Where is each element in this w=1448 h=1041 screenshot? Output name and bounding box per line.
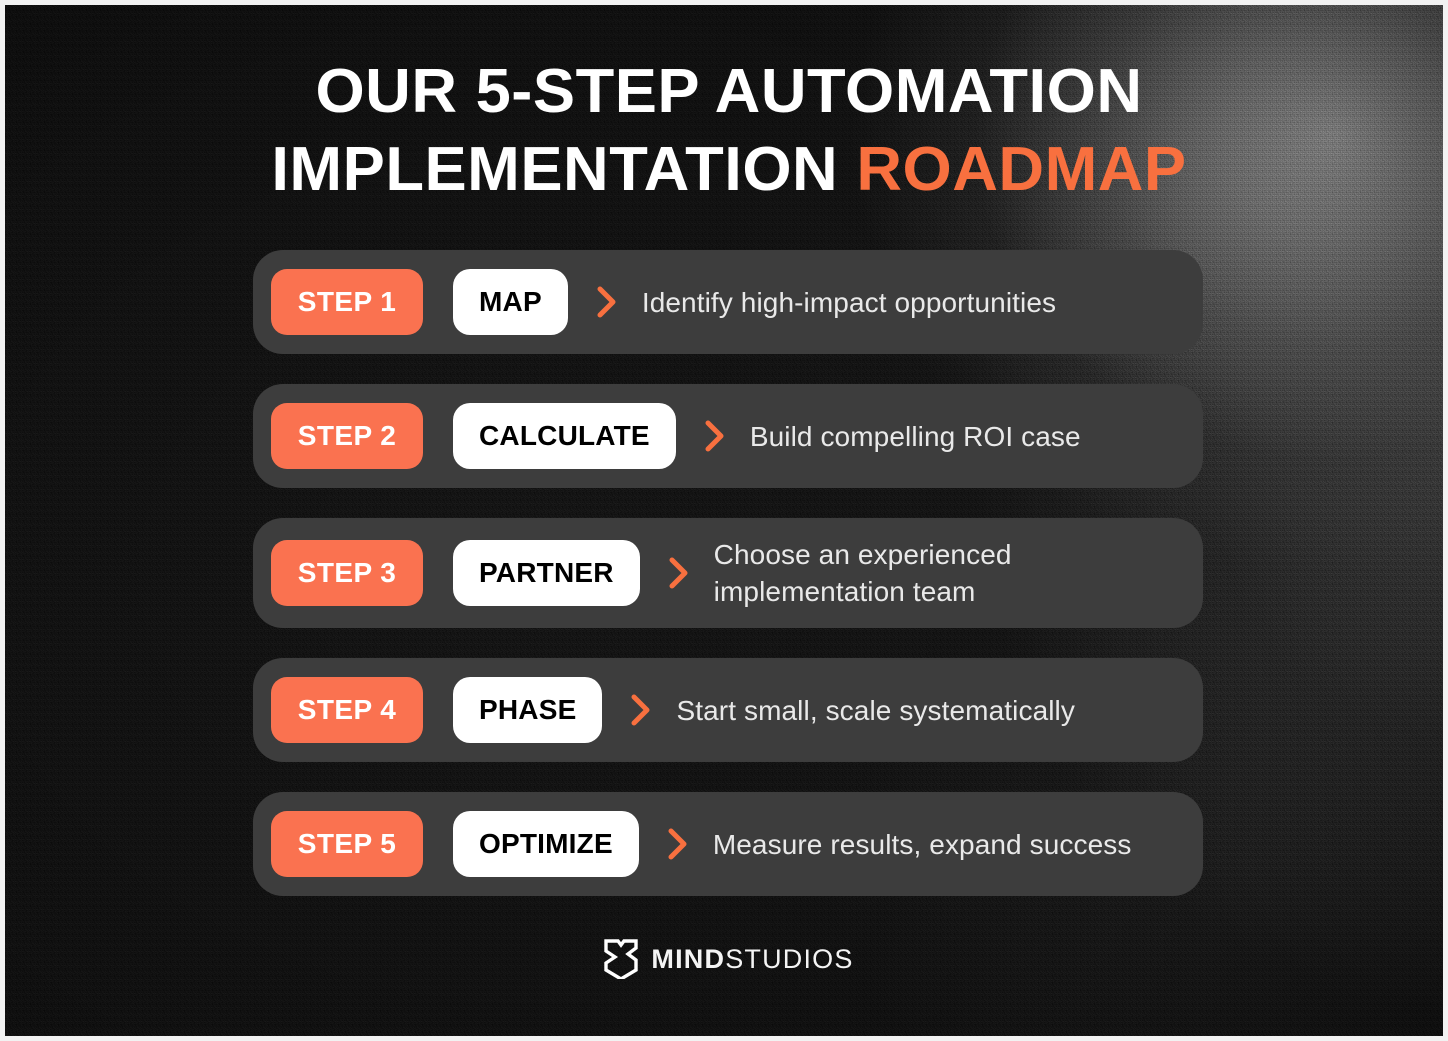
brand-wordmark: MINDSTUDIOS bbox=[651, 944, 853, 975]
step-keyword-pill: OPTIMIZE bbox=[453, 811, 639, 877]
title-line-1: OUR 5-STEP AUTOMATION bbox=[0, 53, 1448, 131]
chevron-right-icon bbox=[666, 556, 692, 590]
step-description: Start small, scale systematically bbox=[676, 692, 1075, 729]
brand-name-bold: MIND bbox=[651, 944, 725, 974]
chevron-right-icon bbox=[594, 285, 620, 319]
step-row[interactable]: STEP 3 PARTNER Choose an experienced imp… bbox=[253, 518, 1203, 628]
step-badge: STEP 5 bbox=[271, 811, 423, 877]
step-keyword-pill: PARTNER bbox=[453, 540, 640, 606]
step-description: Build compelling ROI case bbox=[750, 418, 1081, 455]
page-title: OUR 5-STEP AUTOMATION IMPLEMENTATION ROA… bbox=[5, 53, 1448, 209]
step-badge: STEP 2 bbox=[271, 403, 423, 469]
step-description: Identify high-impact opportunities bbox=[642, 284, 1056, 321]
step-keyword-pill: PHASE bbox=[453, 677, 602, 743]
mind-studios-shield-icon bbox=[604, 939, 638, 979]
step-keyword-pill: MAP bbox=[453, 269, 568, 335]
title-line-2-plain: IMPLEMENTATION bbox=[271, 135, 856, 204]
roadmap-infographic: OUR 5-STEP AUTOMATION IMPLEMENTATION ROA… bbox=[0, 0, 1448, 1041]
step-description: Measure results, expand success bbox=[713, 826, 1132, 863]
chevron-right-icon bbox=[665, 827, 691, 861]
title-accent-word: ROADMAP bbox=[856, 135, 1186, 204]
step-description: Choose an experienced implementation tea… bbox=[714, 536, 1044, 610]
step-badge: STEP 4 bbox=[271, 677, 423, 743]
step-row[interactable]: STEP 4 PHASE Start small, scale systemat… bbox=[253, 658, 1203, 762]
brand-name-light: STUDIOS bbox=[725, 944, 853, 974]
chevron-right-icon bbox=[702, 419, 728, 453]
step-row[interactable]: STEP 1 MAP Identify high-impact opportun… bbox=[253, 250, 1203, 354]
footer-brand: MINDSTUDIOS bbox=[5, 939, 1448, 979]
step-badge: STEP 3 bbox=[271, 540, 423, 606]
step-row[interactable]: STEP 2 CALCULATE Build compelling ROI ca… bbox=[253, 384, 1203, 488]
step-row[interactable]: STEP 5 OPTIMIZE Measure results, expand … bbox=[253, 792, 1203, 896]
steps-list: STEP 1 MAP Identify high-impact opportun… bbox=[253, 250, 1203, 926]
step-badge: STEP 1 bbox=[271, 269, 423, 335]
chevron-right-icon bbox=[628, 693, 654, 727]
title-line-2: IMPLEMENTATION ROADMAP bbox=[0, 131, 1448, 209]
step-keyword-pill: CALCULATE bbox=[453, 403, 676, 469]
